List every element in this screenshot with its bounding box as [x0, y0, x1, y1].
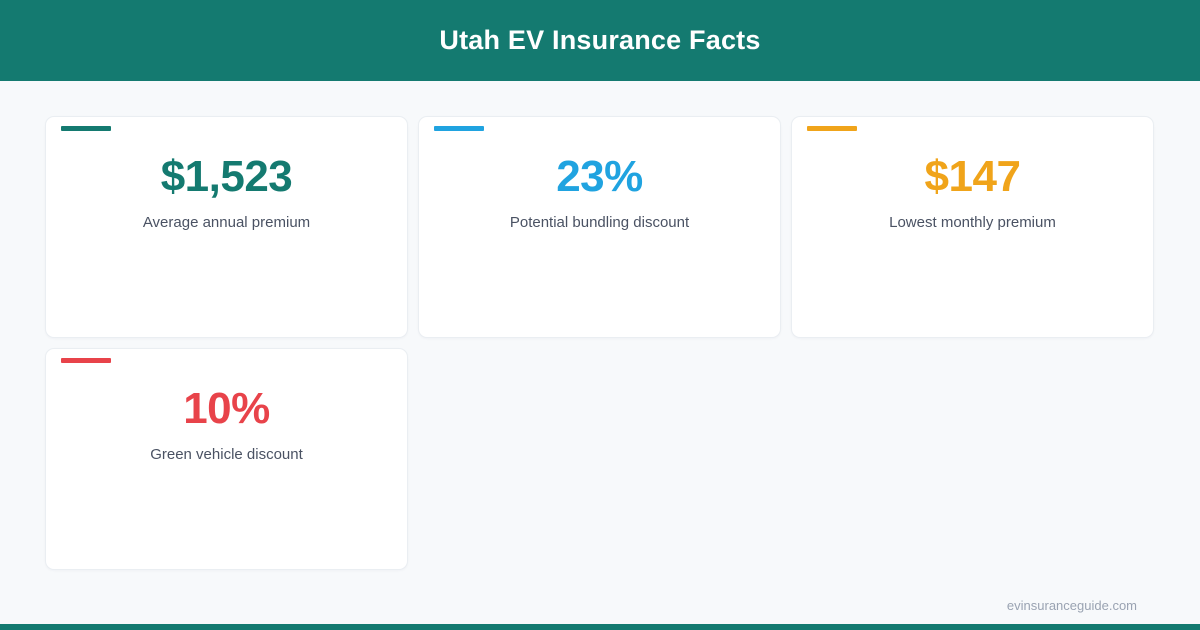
stat-label: Green vehicle discount	[150, 445, 303, 465]
footer-accent-bar	[0, 624, 1200, 630]
stat-label: Average annual premium	[143, 213, 310, 233]
stat-label: Potential bundling discount	[510, 213, 689, 233]
stat-card-grid: $1,523 Average annual premium 23% Potent…	[45, 116, 1155, 570]
page-title: Utah EV Insurance Facts	[439, 25, 760, 56]
stat-card-green-vehicle-discount: 10% Green vehicle discount	[45, 348, 408, 570]
header-banner: Utah EV Insurance Facts	[0, 0, 1200, 81]
stat-value: $147	[925, 154, 1021, 200]
site-watermark: evinsuranceguide.com	[1007, 598, 1137, 613]
stat-label: Lowest monthly premium	[889, 213, 1056, 233]
accent-bar-icon	[61, 358, 111, 363]
stat-card-average-annual-premium: $1,523 Average annual premium	[45, 116, 408, 338]
infographic-root: Utah EV Insurance Facts $1,523 Average a…	[0, 0, 1200, 630]
stat-value: $1,523	[161, 154, 293, 200]
accent-bar-icon	[61, 126, 111, 131]
body-area: $1,523 Average annual premium 23% Potent…	[0, 81, 1200, 624]
stat-value: 10%	[183, 386, 270, 432]
stat-card-lowest-monthly-premium: $147 Lowest monthly premium	[791, 116, 1154, 338]
stat-value: 23%	[556, 154, 643, 200]
stat-card-potential-bundling-discount: 23% Potential bundling discount	[418, 116, 781, 338]
accent-bar-icon	[434, 126, 484, 131]
accent-bar-icon	[807, 126, 857, 131]
